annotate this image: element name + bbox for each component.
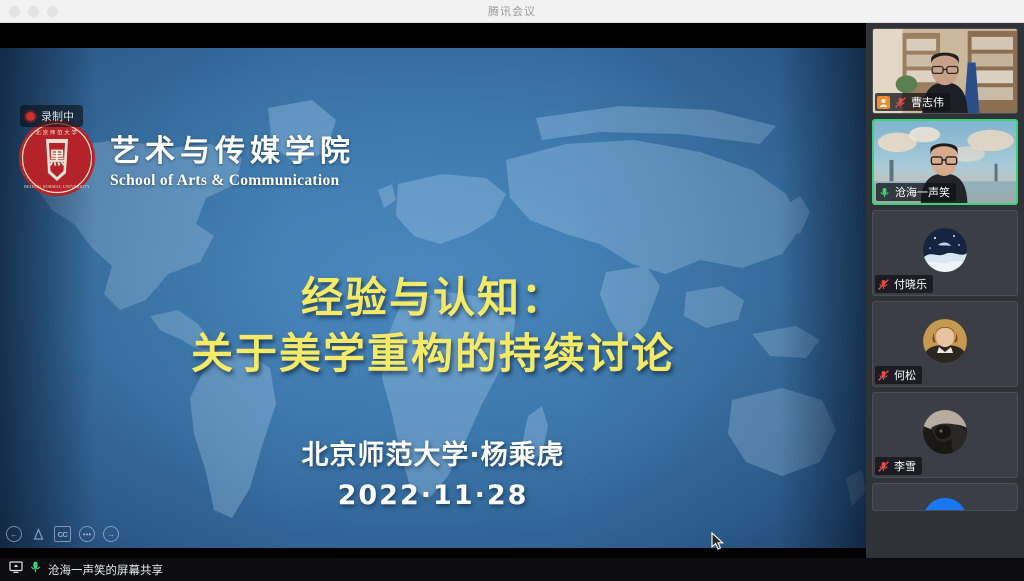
participant-tile[interactable]: 李雪 <box>872 392 1018 478</box>
svg-text:BEIJING NORMAL UNIVERSITY: BEIJING NORMAL UNIVERSITY <box>24 184 90 189</box>
host-icon <box>877 96 890 109</box>
slide-date: 2022·11·28 <box>0 480 866 511</box>
microphone-muted-icon <box>894 96 907 109</box>
participant-name: 付晓乐 <box>894 276 927 292</box>
shared-screen-area[interactable]: 录制中 黒 北京师范大学 BEIJING NORMAL UNI <box>0 23 866 558</box>
participant-initials-avatar: 诗情 <box>923 498 967 511</box>
record-dot-icon <box>26 112 35 121</box>
window-title: 腾讯会议 <box>0 3 1024 19</box>
presentation-slide: 录制中 黒 北京师范大学 BEIJING NORMAL UNI <box>0 48 866 548</box>
microphone-on-icon <box>29 560 42 579</box>
university-seal-logo: 黒 北京师范大学 BEIJING NORMAL UNIVERSITY <box>18 119 96 197</box>
participant-name-badge: 曹志伟 <box>875 93 950 111</box>
captions-button[interactable]: CC <box>54 526 71 542</box>
school-brand-block: 黒 北京师范大学 BEIJING NORMAL UNIVERSITY 艺术与传媒… <box>18 119 355 197</box>
screen-share-label: 沧海一声笑的屏幕共享 <box>48 562 163 578</box>
participant-tile[interactable]: 曹志伟 <box>872 28 1018 114</box>
participant-avatar <box>923 228 967 272</box>
screen-share-status-bar: 沧海一声笑的屏幕共享 <box>0 558 1024 581</box>
maximize-window-button[interactable] <box>47 6 58 17</box>
participant-tile-partial[interactable]: 诗情 <box>872 483 1018 511</box>
participants-rail[interactable]: 曹志伟 <box>866 23 1024 558</box>
slide-title: 经验与认知： 关于美学重构的持续讨论 <box>0 270 866 382</box>
school-name-en: School of Arts & Communication <box>110 172 355 190</box>
more-options-button[interactable]: ••• <box>79 526 95 542</box>
svg-text:北京师范大学: 北京师范大学 <box>35 129 78 137</box>
screen-share-icon <box>9 560 23 579</box>
svg-text:黒: 黒 <box>49 149 66 169</box>
window-title-bar: 腾讯会议 <box>0 0 1024 23</box>
microphone-muted-icon <box>877 369 890 382</box>
slide-subtitle: 北京师范大学·杨乘虎 <box>0 433 866 472</box>
minimize-window-button[interactable] <box>28 6 39 17</box>
pen-tool-button[interactable] <box>30 526 46 542</box>
participant-name-badge: 付晓乐 <box>875 275 933 293</box>
microphone-on-icon <box>878 186 891 199</box>
close-window-button[interactable] <box>9 6 20 17</box>
tencent-meeting-window: 腾讯会议 <box>0 0 1024 581</box>
participant-name: 沧海一声笑 <box>895 184 950 200</box>
participant-tile-active-speaker[interactable]: 沧海一声笑 <box>872 119 1018 205</box>
recording-indicator: 录制中 <box>20 105 83 127</box>
participant-tile[interactable]: 何松 <box>872 301 1018 387</box>
next-slide-button[interactable]: → <box>103 526 119 542</box>
school-name-cn: 艺术与传媒学院 <box>110 126 355 170</box>
participant-name-badge: 何松 <box>875 366 922 384</box>
participant-avatar <box>923 410 967 454</box>
participant-name: 曹志伟 <box>911 94 944 110</box>
participant-name: 何松 <box>894 367 916 383</box>
recording-label: 录制中 <box>41 108 74 124</box>
slide-title-line2: 关于美学重构的持续讨论 <box>0 326 866 382</box>
participant-name-badge: 沧海一声笑 <box>876 183 956 201</box>
meeting-stage: 录制中 黒 北京师范大学 BEIJING NORMAL UNI <box>0 23 1024 581</box>
slideshow-controls[interactable]: ← CC ••• → <box>6 526 119 542</box>
mouse-cursor <box>711 532 724 551</box>
microphone-muted-icon <box>877 460 890 473</box>
window-traffic-lights <box>9 0 58 23</box>
participant-name: 李雪 <box>894 458 916 474</box>
participant-avatar <box>923 319 967 363</box>
microphone-muted-icon <box>877 278 890 291</box>
participant-name-badge: 李雪 <box>875 457 922 475</box>
prev-slide-button[interactable]: ← <box>6 526 22 542</box>
slide-title-line1: 经验与认知： <box>0 270 866 326</box>
participant-tile[interactable]: 付晓乐 <box>872 210 1018 296</box>
